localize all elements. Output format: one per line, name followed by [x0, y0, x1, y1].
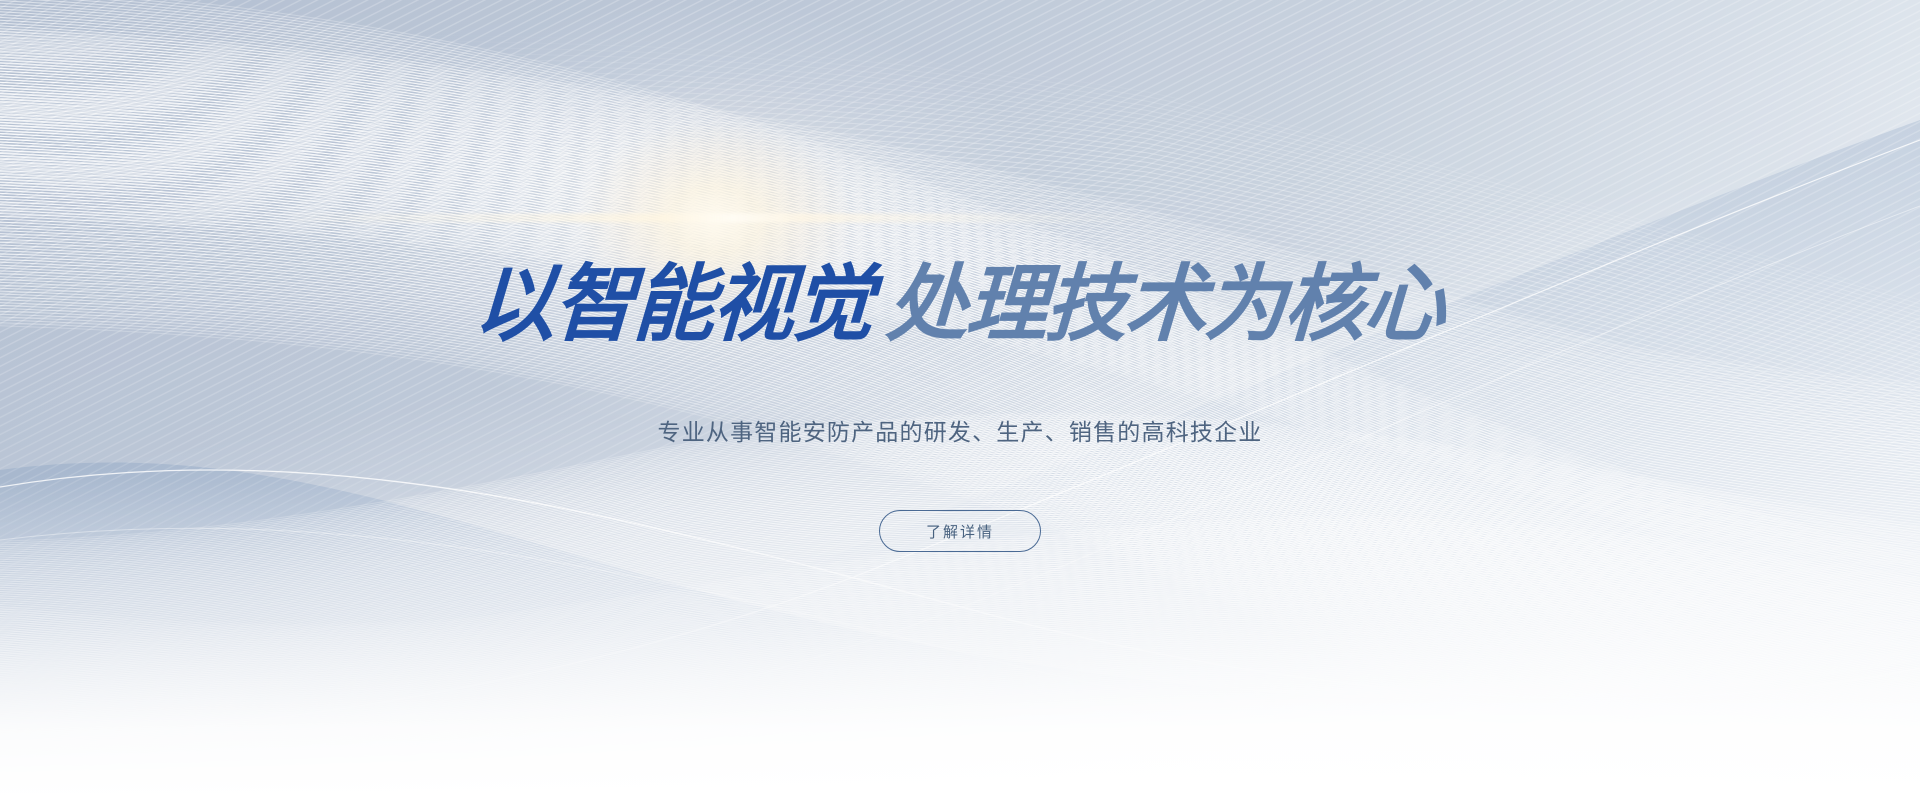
hero-banner: 以智能视觉处理技术为核心 专业从事智能安防产品的研发、生产、销售的高科技企业 了…: [0, 0, 1920, 800]
headline-segment-primary: 以智能视觉: [472, 262, 874, 346]
headline-segment-secondary: 处理技术为核心: [884, 262, 1445, 346]
hero-content: 以智能视觉处理技术为核心 专业从事智能安防产品的研发、生产、销售的高科技企业 了…: [0, 0, 1920, 800]
hero-subtitle: 专业从事智能安防产品的研发、生产、销售的高科技企业: [658, 421, 1263, 444]
learn-more-button[interactable]: 了解详情: [879, 510, 1041, 552]
page-title: 以智能视觉处理技术为核心: [468, 262, 1452, 346]
